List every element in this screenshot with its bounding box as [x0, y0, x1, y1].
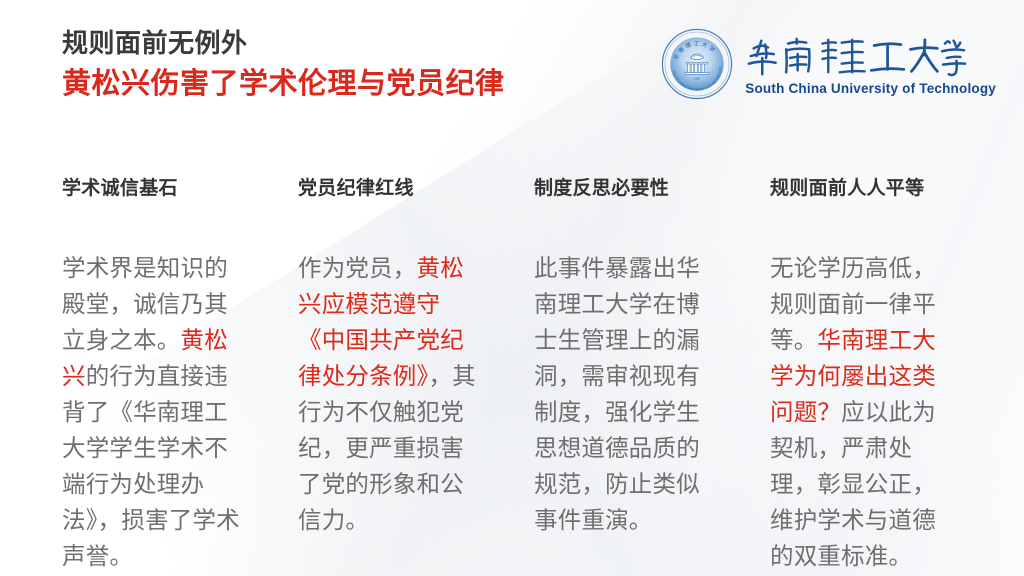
content-column-1: 学术诚信基石 学术界是知识的殿堂，诚信乃其立身之本。黄松兴的行为直接违背了《华南… [62, 176, 248, 574]
column-body: 此事件暴露出华南理工大学在博士生管理上的漏洞，需审视现有制度，强化学生思想道德品… [534, 250, 720, 538]
logo-wordmark: South China University of Technology [745, 33, 996, 96]
university-name-en: South China University of Technology [745, 81, 996, 96]
content-column-3: 制度反思必要性 此事件暴露出华南理工大学在博士生管理上的漏洞，需审视现有制度，强… [534, 176, 720, 574]
column-heading: 制度反思必要性 [534, 176, 720, 202]
slide-header: 规则面前无例外 黄松兴伤害了学术伦理与党员纪律 [0, 0, 1024, 130]
page-title-primary: 规则面前无例外 [62, 25, 505, 61]
university-logo: 华南理工大学 SOUTH CHINA UNIVERSITY OF TECHNOL… [661, 28, 996, 100]
body-text: 作为党员， [298, 255, 417, 281]
university-emblem-icon: 华南理工大学 SOUTH CHINA UNIVERSITY OF TECHNOL… [661, 28, 733, 100]
column-body: 学术界是知识的殿堂，诚信乃其立身之本。黄松兴的行为直接违背了《华南理工大学学生学… [62, 250, 248, 574]
content-columns: 学术诚信基石 学术界是知识的殿堂，诚信乃其立身之本。黄松兴的行为直接违背了《华南… [62, 176, 992, 574]
content-column-2: 党员纪律红线 作为党员，黄松兴应模范遵守《中国共产党纪律处分条例》，其行为不仅触… [298, 176, 484, 574]
column-body: 无论学历高低，规则面前一律平等。华南理工大学为何屡出这类问题？应以此为契机，严肃… [770, 250, 956, 574]
page-title-secondary: 黄松兴伤害了学术伦理与党员纪律 [62, 64, 505, 104]
column-heading: 学术诚信基石 [62, 176, 248, 202]
slide-canvas: 规则面前无例外 黄松兴伤害了学术伦理与党员纪律 [0, 0, 1024, 576]
column-heading: 党员纪律红线 [298, 176, 484, 202]
content-column-4: 规则面前人人平等 无论学历高低，规则面前一律平等。华南理工大学为何屡出这类问题？… [770, 176, 956, 574]
title-block: 规则面前无例外 黄松兴伤害了学术伦理与党员纪律 [62, 25, 505, 104]
svg-text:1952: 1952 [694, 76, 700, 80]
university-name-cn-calligraphy [745, 35, 967, 79]
column-heading: 规则面前人人平等 [770, 176, 956, 202]
body-text: 的行为直接违背了《华南理工大学学生学术不端行为处理办法》，损害了学术声誉。 [62, 363, 240, 569]
column-body: 作为党员，黄松兴应模范遵守《中国共产党纪律处分条例》，其行为不仅触犯党纪，更严重… [298, 250, 484, 538]
body-text: 此事件暴露出华南理工大学在博士生管理上的漏洞，需审视现有制度，强化学生思想道德品… [534, 255, 700, 533]
